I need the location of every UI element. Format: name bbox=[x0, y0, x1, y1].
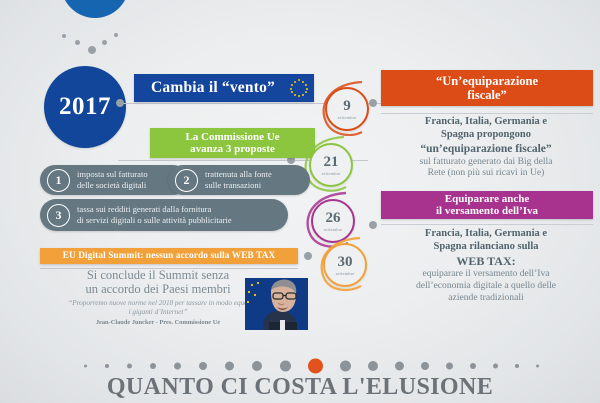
body-summit-quote: “Proporremo nuove norme nel 2018 per tas… bbox=[68, 299, 248, 317]
body-iva-l2: Spagna rilanciano sulla bbox=[372, 241, 600, 254]
date-30-day: 30 bbox=[338, 255, 353, 270]
proposal-2-line2: sulle transazioni bbox=[205, 180, 261, 190]
banner-commissione-ue: La Commissione Ue avanza 3 proposte bbox=[150, 128, 315, 158]
body-summit: Si conclude il Summit senza un accordo d… bbox=[68, 268, 248, 326]
body-summit-l2: un accordo dei Paesi membri bbox=[68, 282, 248, 296]
date-circle-21-badge: 21 settembre bbox=[309, 143, 353, 187]
proposal-3-line1: tassa sui redditi generati dalla fornitu… bbox=[77, 204, 211, 214]
body-iva-l5: dell’economia digitale a quello delle bbox=[372, 280, 600, 292]
date-circle-9-badge: 9 settembre bbox=[325, 87, 369, 131]
body-summit-l1: Si conclude il Summit senza bbox=[68, 268, 248, 282]
year-badge-2017: 2017 bbox=[44, 66, 126, 148]
body-equiparazione-l2: Spagna propongono bbox=[372, 129, 600, 142]
body-iva-l3: WEB TAX: bbox=[372, 254, 600, 269]
banner-eu-digital-summit: EU Digital Summit: nessun accordo sulla … bbox=[40, 248, 298, 264]
date-30-month: settembre bbox=[336, 271, 355, 276]
banner-equiparazione-line1: “Un’equiparazione bbox=[436, 74, 538, 88]
proposal-pill-2: 2 trattenuta alla fonte sulle transazion… bbox=[168, 165, 310, 195]
banner-equiparazione-line2: fiscale” bbox=[467, 88, 507, 102]
banner-commissione-line1: La Commissione Ue bbox=[185, 131, 279, 143]
proposal-1-line1: imposta sul fatturato bbox=[77, 169, 148, 179]
body-equiparazione: Francia, Italia, Germania e Spagna propo… bbox=[372, 116, 600, 179]
top-blue-circle-decoration bbox=[61, 0, 129, 18]
proposal-3-line2: di servizi digitali o sulle attività pub… bbox=[77, 215, 232, 225]
proposal-3-text: tassa sui redditi generati dalla fornitu… bbox=[77, 204, 241, 226]
connector-bullet-1 bbox=[116, 99, 124, 107]
date-circle-30: 30 settembre bbox=[314, 234, 372, 292]
juncker-portrait-illustration bbox=[245, 278, 308, 330]
infographic-canvas: 2017 Cambia il “vento” “Un’equiparazione… bbox=[0, 0, 600, 403]
date-26-month: settembre bbox=[324, 227, 343, 232]
connector-bullet-4 bbox=[304, 252, 312, 260]
body-equiparazione-l3: “un’equiparazione fiscale” bbox=[372, 142, 600, 156]
date-9-month: settembre bbox=[338, 115, 357, 120]
jean-claude-juncker-photo bbox=[245, 278, 308, 330]
rule-under-iva bbox=[381, 224, 593, 225]
date-9-day: 9 bbox=[343, 99, 351, 114]
body-iva-l4: equiparare il versamento dell’Iva bbox=[372, 268, 600, 280]
banner-commissione-line2: avanza 3 proposte bbox=[190, 143, 275, 155]
date-21-day: 21 bbox=[324, 155, 339, 170]
banner-iva-line1: Equiparare anche bbox=[445, 193, 529, 205]
date-26-day: 26 bbox=[326, 211, 341, 226]
rule-under-equiparazione bbox=[381, 113, 593, 114]
proposal-2-line1: trattenuta alla fonte bbox=[205, 169, 272, 179]
banner-cambia-il-vento: Cambia il “vento” bbox=[134, 74, 314, 102]
proposal-2-number: 2 bbox=[175, 169, 198, 192]
proposal-1-line2: delle società digitali bbox=[77, 180, 146, 190]
body-equiparazione-l4: sul fatturato generato dai Big della bbox=[372, 156, 600, 168]
date-21-month: settembre bbox=[322, 171, 341, 176]
banner-iva-line2: il versamento dell’Iva bbox=[436, 205, 538, 217]
body-summit-attribution: Jean-Claude Juncker - Pres. Commissione … bbox=[68, 319, 248, 326]
bottom-title: QUANTO CI COSTA L'ELUSIONE bbox=[0, 374, 600, 401]
banner-summit-label: EU Digital Summit: nessun accordo sulla … bbox=[63, 251, 276, 261]
body-iva: Francia, Italia, Germania e Spagna rilan… bbox=[372, 228, 600, 303]
body-iva-l6: aziende tradizionali bbox=[372, 292, 600, 304]
year-badge-label: 2017 bbox=[59, 93, 111, 121]
body-equiparazione-l1: Francia, Italia, Germania e bbox=[372, 116, 600, 129]
proposal-pill-1: 1 imposta sul fatturato delle società di… bbox=[40, 165, 188, 195]
bottom-dot-row bbox=[0, 358, 600, 374]
body-equiparazione-l5: Rete (non più sui ricavi in Ue) bbox=[372, 167, 600, 179]
banner-equiparazione-fiscale: “Un’equiparazione fiscale” bbox=[381, 70, 593, 106]
body-iva-l1: Francia, Italia, Germania e bbox=[372, 228, 600, 241]
proposal-2-text: trattenuta alla fonte sulle transazioni bbox=[205, 169, 281, 191]
date-circle-30-badge: 30 settembre bbox=[323, 243, 367, 287]
proposal-1-number: 1 bbox=[47, 169, 70, 192]
proposal-3-number: 3 bbox=[47, 204, 70, 227]
proposal-pill-3: 3 tassa sui redditi generati dalla forni… bbox=[40, 199, 288, 231]
eu-flag-stars-icon bbox=[290, 79, 308, 97]
dot-cluster-decoration bbox=[62, 28, 122, 54]
date-circle-9: 9 settembre bbox=[316, 78, 374, 136]
banner-versamento-iva: Equiparare anche il versamento dell’Iva bbox=[381, 191, 593, 219]
banner-cambia-label: Cambia il “vento” bbox=[151, 79, 275, 96]
proposal-1-text: imposta sul fatturato delle società digi… bbox=[77, 169, 157, 191]
